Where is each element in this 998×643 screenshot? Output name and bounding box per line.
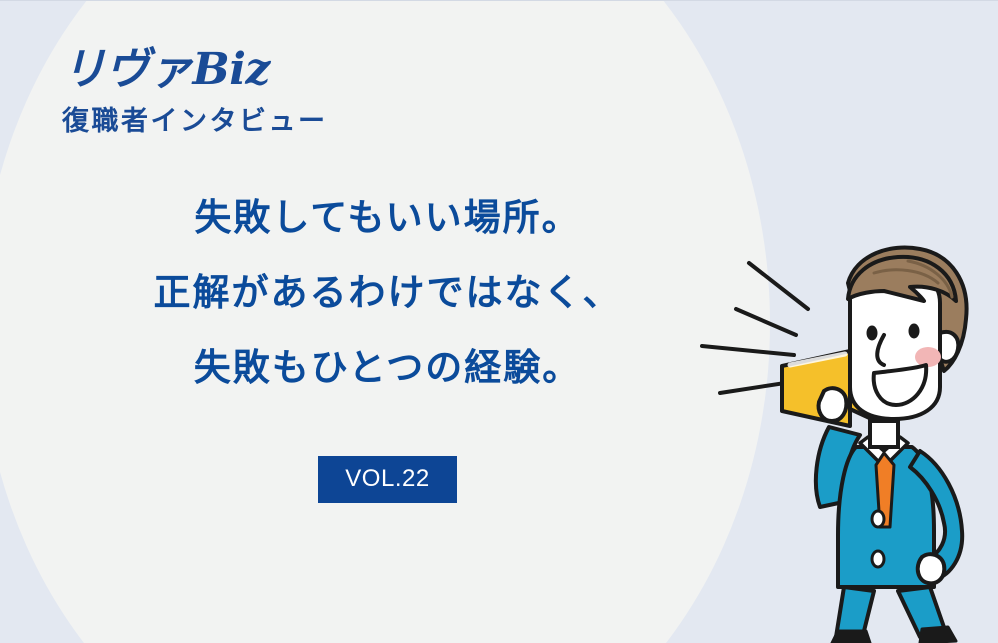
headline-line-2: 正解があるわけではなく、 — [30, 274, 745, 311]
volume-badge-wrapper: VOL.22 — [30, 456, 745, 503]
suit-button-top — [872, 511, 884, 527]
mouth — [874, 365, 926, 405]
shirt-collar — [860, 437, 908, 467]
volume-badge[interactable]: VOL.22 — [318, 456, 456, 503]
hair — [848, 247, 967, 371]
megaphone-icon — [782, 351, 876, 426]
nose — [877, 335, 884, 365]
brand-logo: リヴァBiz — [62, 47, 482, 93]
right-shoe — [920, 627, 956, 643]
right-eye — [909, 324, 920, 339]
headline-line-3: 失敗もひとつの経験。 — [30, 349, 745, 386]
brand-subtitle: 復職者インタビュー — [62, 107, 482, 137]
hair-strands — [874, 261, 952, 297]
left-leg — [836, 587, 874, 639]
campaign-banner: リヴァBiz 復職者インタビュー 失敗してもいい場所。 正解があるわけではなく、… — [0, 0, 998, 643]
suit-torso — [838, 447, 934, 587]
right-hand — [918, 554, 945, 583]
right-arm — [910, 451, 962, 579]
suit-button-bottom — [872, 551, 884, 567]
headline-line-1: 失敗してもいい場所。 — [30, 199, 745, 236]
headline-block: 失敗してもいい場所。 正解があるわけではなく、 失敗もひとつの経験。 — [30, 199, 745, 386]
cheek-blush — [915, 347, 941, 367]
left-arm — [816, 427, 860, 507]
ear — [940, 332, 958, 362]
necktie — [876, 453, 894, 527]
face — [850, 271, 940, 419]
left-eye — [867, 326, 878, 341]
brand-block: リヴァBiz 復職者インタビュー — [62, 47, 482, 137]
hair-front — [848, 257, 956, 301]
neck — [870, 421, 898, 447]
left-shoe — [832, 631, 870, 643]
left-hand — [819, 388, 847, 421]
right-leg — [898, 587, 946, 637]
